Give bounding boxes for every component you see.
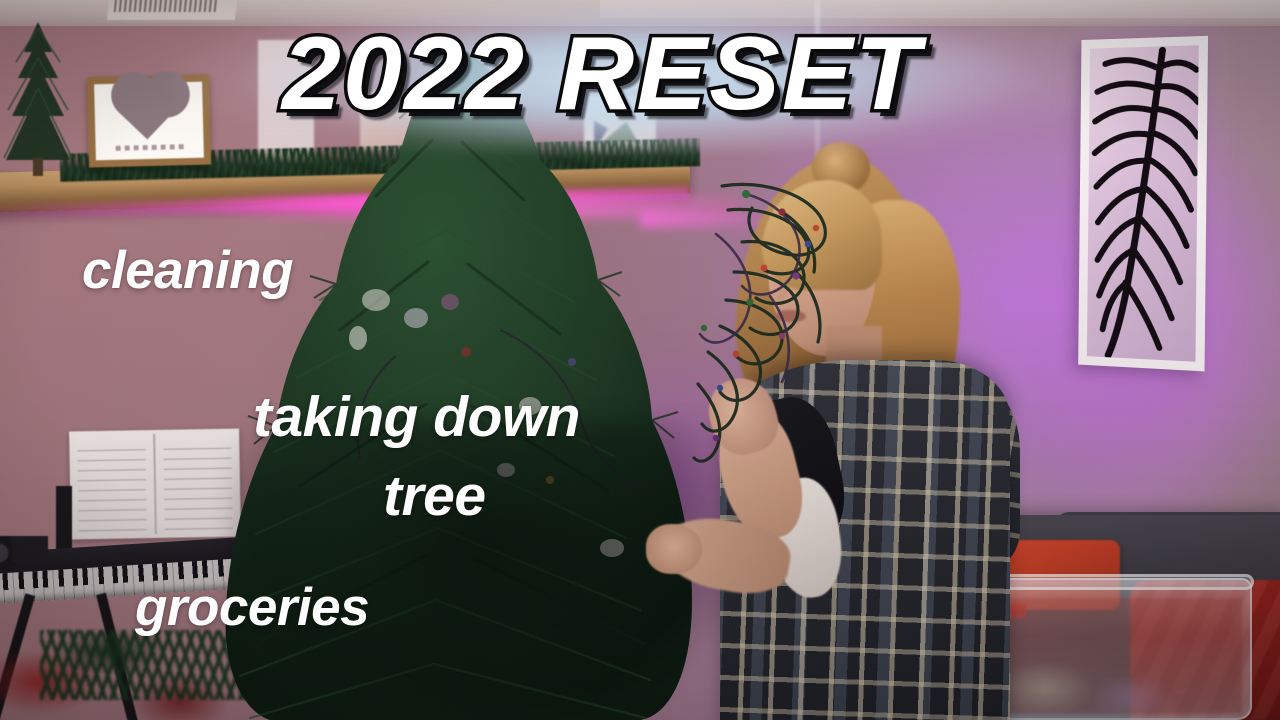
heart-art-print (87, 75, 211, 168)
tangled-christmas-lights (686, 176, 856, 476)
heart-icon (118, 78, 179, 139)
page-title: 2022 RESET (282, 22, 922, 126)
overlay-label-cleaning: cleaning (82, 240, 293, 301)
music-stand (56, 486, 72, 550)
fern-art-print (1078, 36, 1208, 372)
palm-frond-icon (1087, 45, 1199, 362)
overlay-label-groceries: groceries (135, 577, 369, 638)
overlay-label-tree: tree (383, 463, 486, 529)
storage-bin (980, 578, 1252, 720)
overlay-label-taking-down: taking down (253, 384, 580, 450)
sheet-music-spine (153, 434, 157, 534)
storage-bin-contents (990, 598, 1242, 714)
woman-untangling-lights (640, 120, 1020, 720)
heart-print-caption (116, 144, 184, 151)
video-thumbnail: 2022 RESET cleaning taking down tree gro… (0, 0, 1280, 720)
piano-control-panel (12, 536, 48, 562)
fern-art-canvas (1087, 45, 1199, 362)
mini-christmas-tree (2, 18, 74, 178)
lower-hand (646, 524, 702, 574)
